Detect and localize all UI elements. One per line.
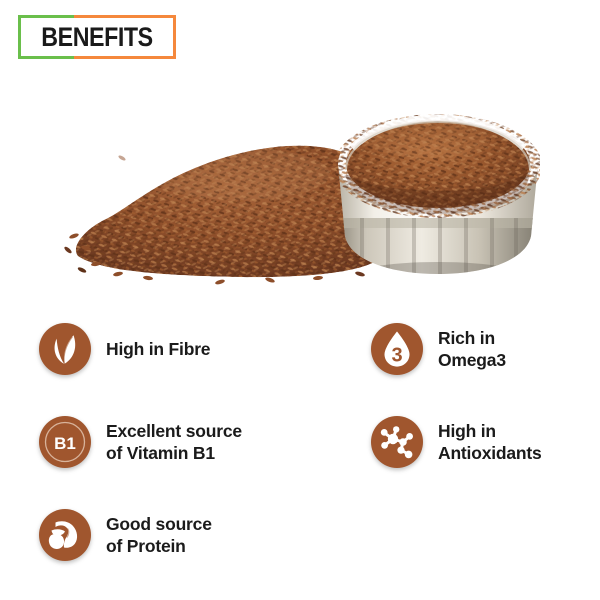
drop-number: 3	[391, 344, 402, 366]
benefit-item-protein[interactable]: Good source of Protein	[38, 508, 212, 562]
water-drop-3-icon: 3	[370, 322, 424, 376]
benefit-label-omega3: Rich in Omega3	[438, 327, 506, 371]
b1-ring-icon: B1	[38, 415, 92, 469]
b1-label: B1	[54, 434, 76, 453]
benefit-label-fibre: High in Fibre	[106, 338, 210, 360]
benefit-label-antioxidants: High in Antioxidants	[438, 420, 542, 464]
leaf-icon	[38, 322, 92, 376]
benefits-list: High in Fibre 3 Rich in Omega3 B1	[0, 310, 600, 590]
benefit-item-omega3[interactable]: 3 Rich in Omega3	[370, 322, 506, 376]
benefit-item-fibre[interactable]: High in Fibre	[38, 322, 210, 376]
benefits-infographic: BENEFITS	[0, 0, 600, 600]
header-badge: BENEFITS	[18, 15, 176, 59]
benefit-label-protein: Good source of Protein	[106, 513, 212, 557]
molecule-icon	[370, 415, 424, 469]
benefit-item-vitamin-b1[interactable]: B1 Excellent source of Vitamin B1	[38, 415, 242, 469]
flax-seed-photo	[60, 78, 540, 293]
page-title: BENEFITS	[29, 15, 165, 59]
flexed-bicep-icon	[38, 508, 92, 562]
benefit-label-vitamin-b1: Excellent source of Vitamin B1	[106, 420, 242, 464]
benefit-item-antioxidants[interactable]: High in Antioxidants	[370, 415, 542, 469]
